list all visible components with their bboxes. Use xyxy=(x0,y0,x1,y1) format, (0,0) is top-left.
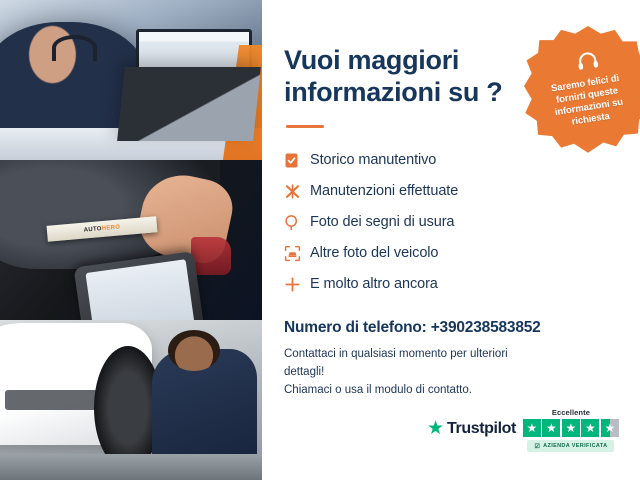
plus-icon xyxy=(284,273,310,295)
title-divider xyxy=(286,125,324,128)
list-item: Storico manutentivo xyxy=(284,148,618,172)
trustpilot-stars: ★ ★ ★ ★ ★ xyxy=(523,419,619,437)
status-badge: ☑ AZIENDA VERIFICATA xyxy=(527,440,614,452)
autohero-ruler-photo: AUTOHERO xyxy=(0,160,262,320)
list-item-label: Storico manutentivo xyxy=(310,153,436,168)
clipboard-check-icon xyxy=(284,149,310,171)
star-icon: ★ xyxy=(542,419,560,437)
mechanic-inspection-photo xyxy=(0,320,262,480)
content-panel: Vuoi maggiori informazioni su ? Storico … xyxy=(262,0,640,480)
trustpilot-rating-block: Eccellente ★ ★ ★ ★ ★ ☑ AZIENDA VERIFICAT… xyxy=(523,408,619,452)
verified-check-icon: ☑ xyxy=(534,443,540,450)
workshop-floor-shape xyxy=(0,454,262,480)
feature-list: Storico manutentivo Manutenzioni effettu… xyxy=(284,148,618,296)
autohero-info-banner: AUTOHERO Vuoi maggiori informazioni su ? xyxy=(0,0,640,480)
list-item: Altre foto del veicolo xyxy=(284,241,618,265)
list-item: Manutenzioni effettuate xyxy=(284,179,618,203)
tablet-shape xyxy=(73,251,204,320)
photo-frame-car-icon xyxy=(284,242,310,264)
trustpilot-star-icon: ★ xyxy=(427,419,444,438)
list-item-label: Manutenzioni effettuate xyxy=(310,184,458,199)
star-icon: ★ xyxy=(523,419,541,437)
list-item-label: E molto altro ancora xyxy=(310,277,438,292)
list-item: Foto dei segni di usura xyxy=(284,210,618,234)
contact-instructions: Contattaci in qualsiasi momento per ulte… xyxy=(284,346,544,399)
callout-badge: Saremo felici di fornirti queste informa… xyxy=(524,26,640,154)
callout-badge-text: Saremo felici di fornirti queste informa… xyxy=(537,71,639,133)
autohero-ruler-logo: AUTOHERO xyxy=(84,224,121,233)
monitor-shape xyxy=(136,29,251,93)
trustpilot-rating-label: Eccellente xyxy=(552,408,590,417)
autohero-ruler-shape: AUTOHERO xyxy=(47,216,158,242)
contact-line-2: Chiamaci o usa il modulo di contatto. xyxy=(284,382,544,400)
star-icon: ★ xyxy=(581,419,599,437)
wrench-cross-icon xyxy=(284,180,310,202)
phone-number[interactable]: Numero di telefono: +390238583852 xyxy=(284,319,618,337)
headset-shape xyxy=(52,35,97,61)
photo-column: AUTOHERO xyxy=(0,0,262,480)
star-icon: ★ xyxy=(562,419,580,437)
list-item-label: Altre foto del veicolo xyxy=(310,246,438,261)
mechanic-head-shape xyxy=(168,330,220,372)
call-center-agents-photo xyxy=(0,0,262,160)
headset-icon xyxy=(575,49,600,76)
trustpilot-wordmark: Trustpilot xyxy=(447,420,516,438)
magnifier-icon xyxy=(284,211,310,233)
contact-line-1: Contattaci in qualsiasi momento per ulte… xyxy=(284,346,544,382)
car-grille-shape xyxy=(5,390,99,409)
trustpilot-logo: ★ Trustpilot xyxy=(427,419,516,438)
star-half-icon: ★ xyxy=(601,419,619,437)
page-title: Vuoi maggiori informazioni su ? xyxy=(284,44,534,108)
list-item: E molto altro ancora xyxy=(284,272,618,296)
list-item-label: Foto dei segni di usura xyxy=(310,215,454,230)
trustpilot-widget[interactable]: ★ Trustpilot Eccellente ★ ★ ★ ★ ★ ☑ AZIE… xyxy=(427,408,619,452)
status-badge-label: AZIENDA VERIFICATA xyxy=(543,443,607,449)
taillight-shape xyxy=(191,237,230,275)
